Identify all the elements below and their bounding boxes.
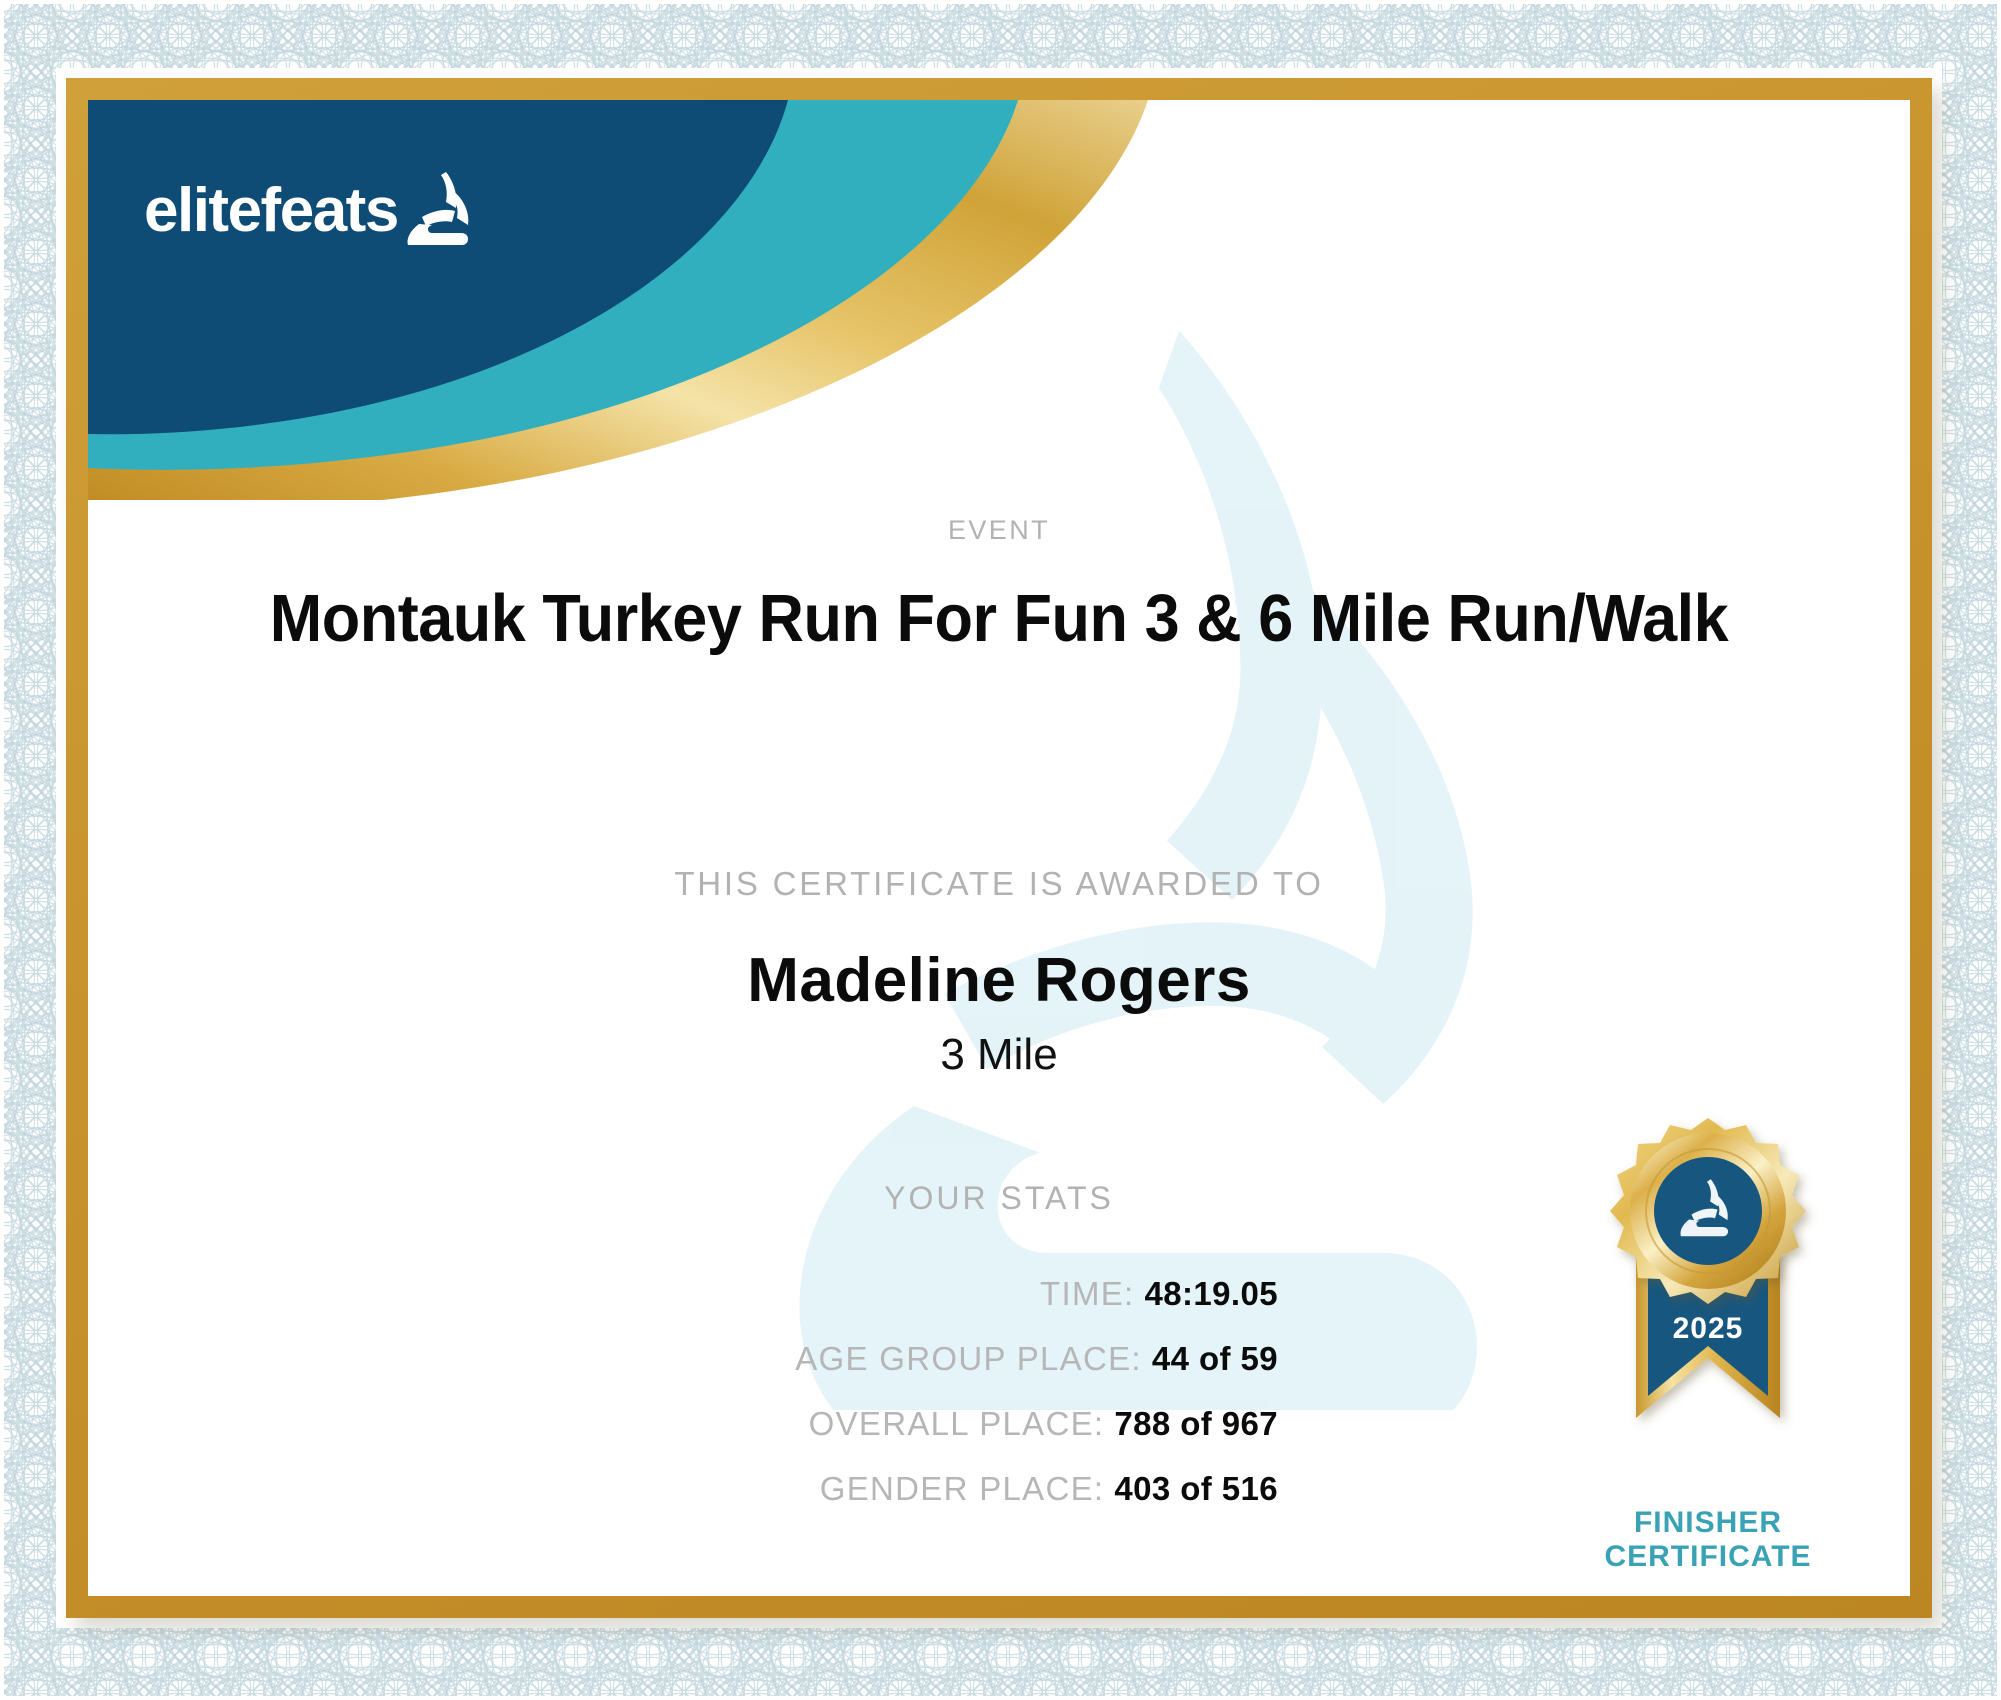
badge-caption-line1: FINISHER xyxy=(1558,1506,1858,1540)
recipient-name: Madeline Rogers xyxy=(88,945,1910,1016)
stat-label: AGE GROUP PLACE: xyxy=(795,1340,1142,1378)
race-distance: 3 Mile xyxy=(88,1030,1910,1080)
stat-value: 403 of 516 xyxy=(1114,1470,1278,1508)
finisher-badge: 2025 xyxy=(1558,1100,1858,1573)
stat-row-age-group-place: AGE GROUP PLACE: 44 of 59 xyxy=(88,1340,1278,1378)
badge-caption: FINISHER CERTIFICATE xyxy=(1558,1506,1858,1573)
stat-row-time: TIME: 48:19.05 xyxy=(88,1275,1278,1313)
stat-label: OVERALL PLACE: xyxy=(809,1405,1105,1443)
event-label: EVENT xyxy=(88,515,1910,546)
certificate-page: elitefeats EVENT Montauk Turkey Run For … xyxy=(0,0,2001,1700)
badge-caption-line2: CERTIFICATE xyxy=(1558,1540,1858,1574)
stat-row-gender-place: GENDER PLACE: 403 of 516 xyxy=(88,1470,1278,1508)
stat-value: 48:19.05 xyxy=(1145,1275,1278,1313)
certificate-card: elitefeats EVENT Montauk Turkey Run For … xyxy=(88,100,1910,1596)
badge-year: 2025 xyxy=(1673,1312,1744,1345)
event-title: Montauk Turkey Run For Fun 3 & 6 Mile Ru… xyxy=(143,580,1856,657)
stat-row-overall-place: OVERALL PLACE: 788 of 967 xyxy=(88,1405,1278,1443)
stats-list: TIME: 48:19.05 AGE GROUP PLACE: 44 of 59… xyxy=(88,1275,1278,1508)
stat-label: GENDER PLACE: xyxy=(820,1470,1105,1508)
awarded-to-label: THIS CERTIFICATE IS AWARDED TO xyxy=(88,865,1910,903)
stat-label: TIME: xyxy=(1040,1275,1135,1313)
stat-value: 44 of 59 xyxy=(1152,1340,1278,1378)
gold-border-frame: elitefeats EVENT Montauk Turkey Run For … xyxy=(66,78,1932,1618)
certificate-content: EVENT Montauk Turkey Run For Fun 3 & 6 M… xyxy=(88,100,1910,1596)
stat-value: 788 of 967 xyxy=(1114,1405,1278,1443)
medal-ribbon-graphic: 2025 xyxy=(1558,1100,1858,1500)
